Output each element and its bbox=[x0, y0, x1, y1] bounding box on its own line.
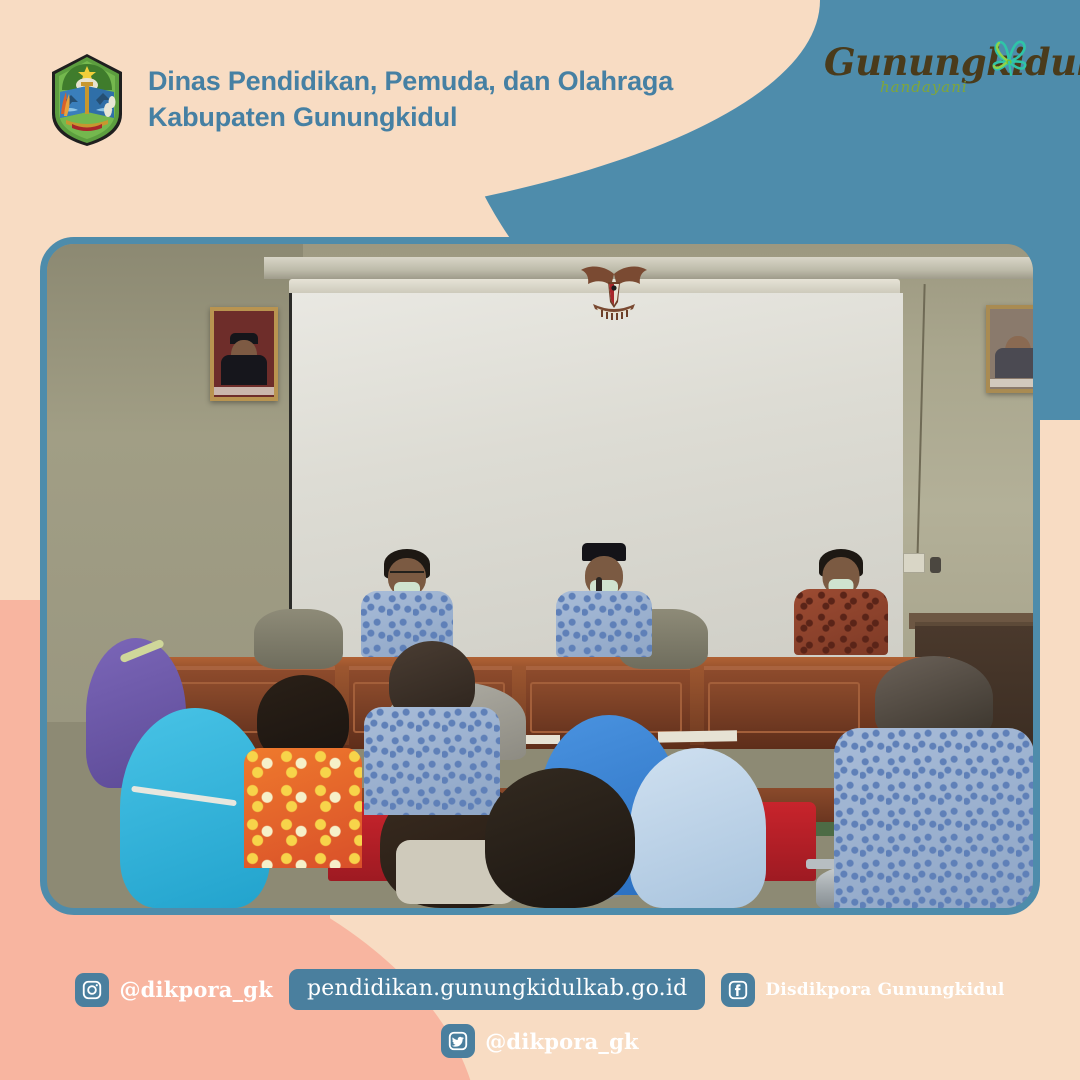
page-title: Dinas Pendidikan, Pemuda, dan Olahraga K… bbox=[148, 64, 673, 135]
social-media-post: Dinas Pendidikan, Pemuda, dan Olahraga K… bbox=[0, 0, 1080, 1080]
instagram-icon[interactable] bbox=[75, 973, 109, 1007]
portrait-caption bbox=[214, 387, 274, 395]
instagram-handle: @dikpora_gk bbox=[119, 977, 273, 1002]
portrait-suit bbox=[995, 348, 1033, 378]
twitter-handle: @dikpora_gk bbox=[485, 1029, 639, 1054]
attendee-shirt bbox=[244, 748, 362, 868]
website-url-pill[interactable]: pendidikan.gunungkidulkab.go.id bbox=[289, 969, 705, 1010]
wall-plug bbox=[930, 557, 941, 573]
brand-lockup: Gunungkidul handayani bbox=[824, 44, 1044, 124]
attendee-blue-batik-right bbox=[836, 656, 1033, 908]
garuda-pancasila-emblem-icon bbox=[575, 260, 653, 322]
header-title-line2: Kabupaten Gunungkidul bbox=[148, 100, 673, 136]
attendee-dark-hair-center bbox=[471, 762, 648, 908]
facebook-page-name: Disdikpora Gunungkidul bbox=[765, 980, 1004, 1000]
gunungkidul-regency-crest-icon bbox=[48, 52, 126, 148]
portrait-suit bbox=[221, 355, 267, 385]
attendee-orange-batik bbox=[234, 649, 372, 868]
social-twitter[interactable]: @dikpora_gk bbox=[441, 1024, 639, 1058]
attendee-head bbox=[485, 768, 635, 908]
speaker-center bbox=[540, 543, 668, 696]
event-photo bbox=[40, 237, 1040, 915]
social-facebook[interactable]: Disdikpora Gunungkidul bbox=[721, 973, 1004, 1007]
hijab bbox=[630, 748, 766, 908]
header: Dinas Pendidikan, Pemuda, dan Olahraga K… bbox=[48, 52, 673, 148]
attendee-uniform bbox=[834, 728, 1033, 908]
wall-outlet bbox=[903, 553, 925, 573]
speaker-eyeglasses bbox=[390, 571, 424, 578]
footer-social-bar: @dikpora_gk pendidikan.gunungkidulkab.go… bbox=[0, 969, 1080, 1058]
green-butterfly-flourish-icon bbox=[978, 28, 1040, 90]
footer-row-primary: @dikpora_gk pendidikan.gunungkidulkab.go… bbox=[0, 969, 1080, 1010]
president-portrait bbox=[210, 307, 278, 401]
social-instagram[interactable]: @dikpora_gk bbox=[75, 973, 273, 1007]
footer-row-secondary: @dikpora_gk bbox=[0, 1024, 1080, 1058]
photo-content bbox=[47, 244, 1033, 908]
portrait-caption bbox=[990, 379, 1033, 387]
header-title-line1: Dinas Pendidikan, Pemuda, dan Olahraga bbox=[148, 64, 673, 100]
facebook-icon[interactable] bbox=[721, 973, 755, 1007]
speaker-uniform bbox=[794, 589, 888, 655]
twitter-icon[interactable] bbox=[441, 1024, 475, 1058]
speaker-uniform bbox=[556, 591, 652, 657]
vice-president-portrait bbox=[986, 305, 1033, 393]
